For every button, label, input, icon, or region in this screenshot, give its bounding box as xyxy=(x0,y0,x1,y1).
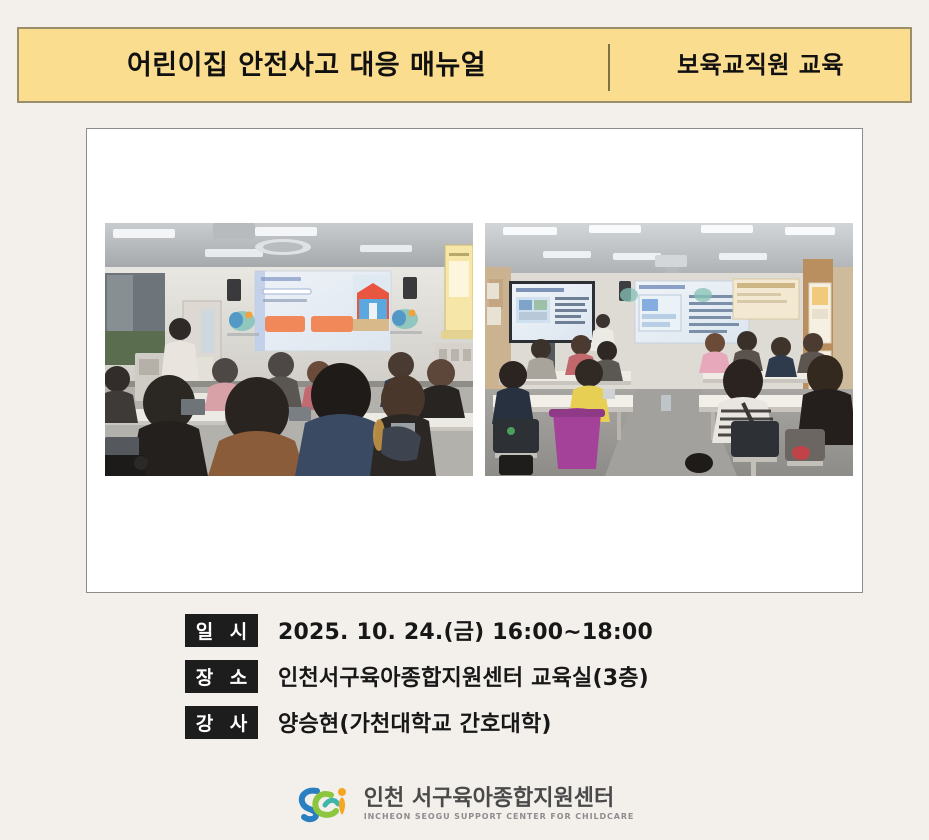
footer-logo-text: 인천 서구육아종합지원센터 INCHEON SEOGU SUPPORT CENT… xyxy=(364,787,635,820)
info-value-date: 2025. 10. 24.(금) 16:00~18:00 xyxy=(278,614,653,646)
footer-logo-title: 인천 서구육아종합지원센터 xyxy=(364,787,635,810)
info-value-instructor: 양승현(가천대학교 간호대학) xyxy=(278,706,552,738)
photo-row xyxy=(105,223,853,476)
info-row-instructor: 강 사 양승현(가천대학교 간호대학) xyxy=(185,704,805,740)
info-row-location: 장 소 인천서구육아종합지원센터 교육실(3층) xyxy=(185,658,805,694)
lecture-photo-left xyxy=(105,223,473,476)
info-row-date: 일 시 2025. 10. 24.(금) 16:00~18:00 xyxy=(185,612,805,648)
lecture-photo-right-image xyxy=(485,223,853,476)
center-logo-icon xyxy=(295,783,355,825)
page-subtitle: 보육교직원 교육 xyxy=(611,53,910,77)
photo-panel xyxy=(86,128,863,593)
footer-logo: 인천 서구육아종합지원센터 INCHEON SEOGU SUPPORT CENT… xyxy=(0,783,929,825)
footer-logo-subtitle: INCHEON SEOGU SUPPORT CENTER FOR CHILDCA… xyxy=(364,813,635,821)
lecture-photo-left-image xyxy=(105,223,473,476)
page-title: 어린이집 안전사고 대응 매뉴얼 xyxy=(19,52,594,79)
info-label-instructor: 강 사 xyxy=(185,706,258,739)
info-label-date: 일 시 xyxy=(185,614,258,647)
header-divider xyxy=(608,44,610,91)
info-label-location: 장 소 xyxy=(185,660,258,693)
info-value-location: 인천서구육아종합지원센터 교육실(3층) xyxy=(278,660,649,692)
event-info-block: 일 시 2025. 10. 24.(금) 16:00~18:00 장 소 인천서… xyxy=(185,612,805,750)
lecture-photo-right xyxy=(485,223,853,476)
header-banner-inner: 어린이집 안전사고 대응 매뉴얼 보육교직원 교육 xyxy=(19,29,910,101)
header-banner: 어린이집 안전사고 대응 매뉴얼 보육교직원 교육 xyxy=(17,27,912,103)
